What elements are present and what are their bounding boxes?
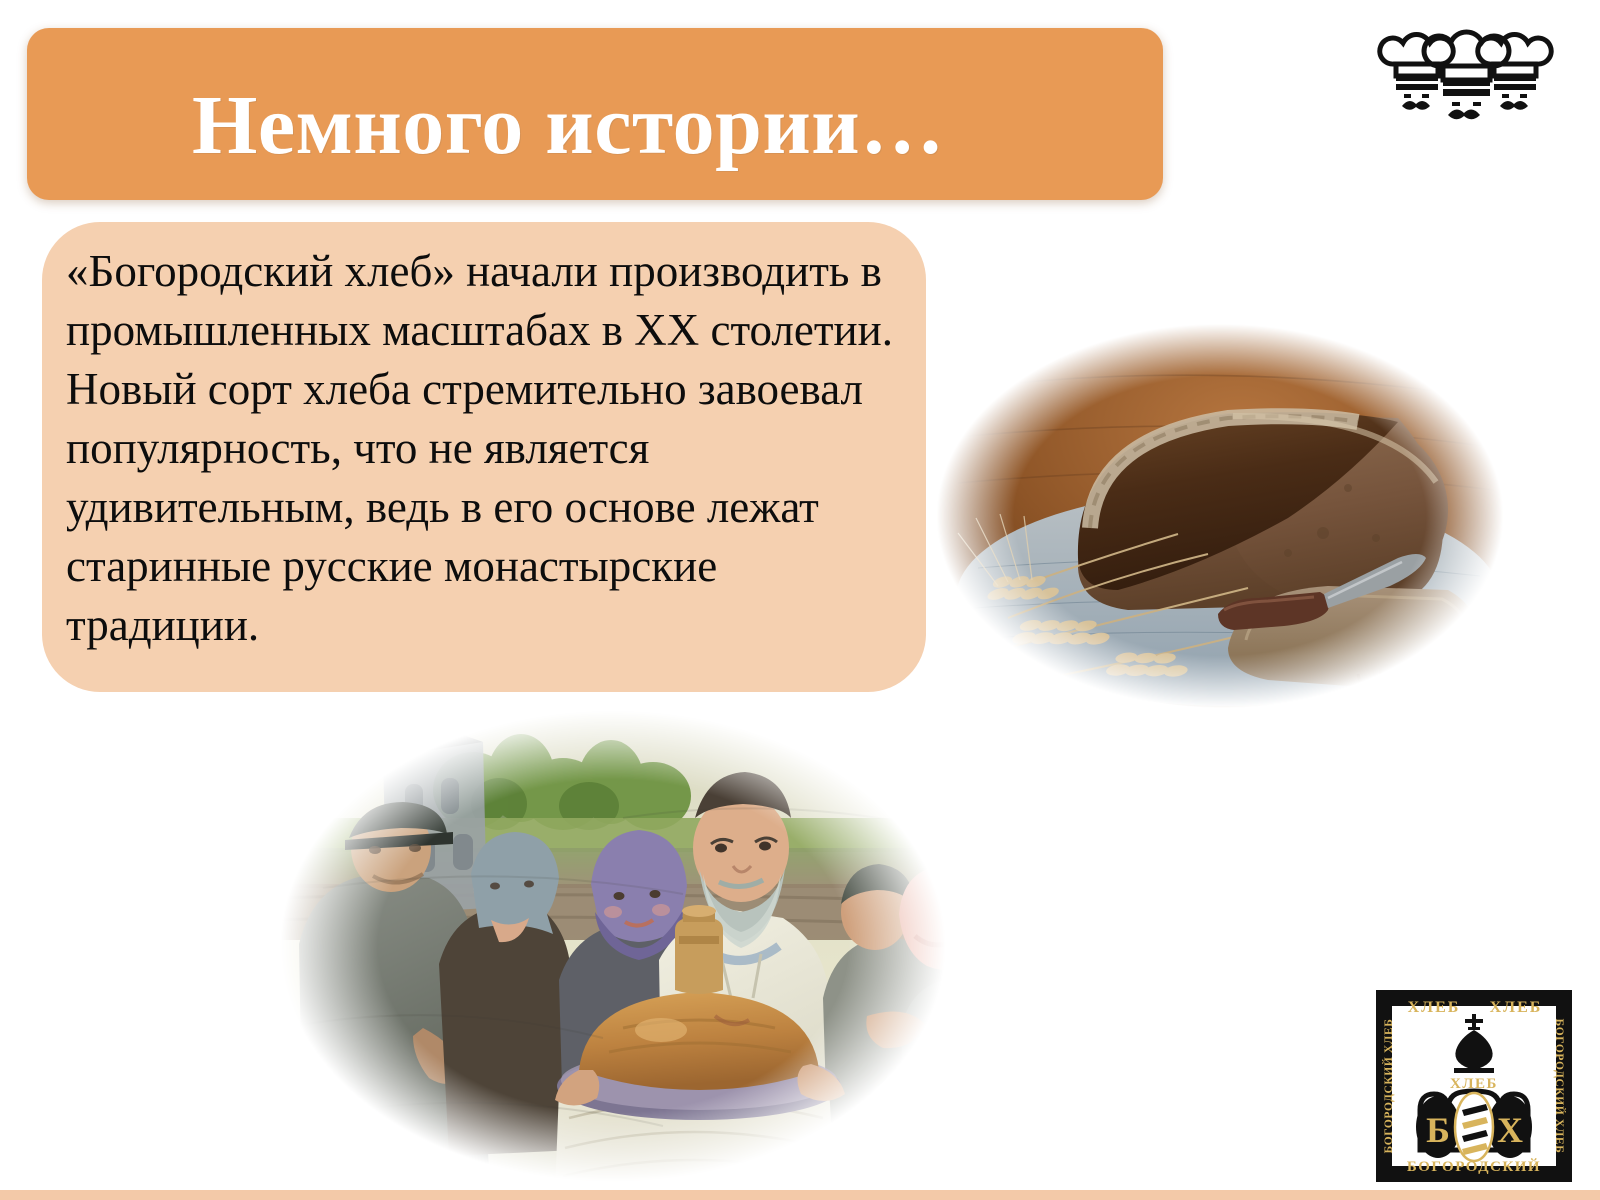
title-banner: Немного истории…	[27, 28, 1163, 200]
svg-text:БОГОРОДСКИЙ ХЛЕБ: БОГОРОДСКИЙ ХЛЕБ	[1553, 1019, 1567, 1154]
svg-text:ХЛЕБ: ХЛЕБ	[1490, 999, 1543, 1016]
svg-text:БОГОРОДСКИЙ ХЛЕБ: БОГОРОДСКИЙ ХЛЕБ	[1381, 1019, 1395, 1154]
painting-photo	[263, 698, 963, 1194]
svg-text:Б: Б	[1426, 1110, 1450, 1150]
bottom-accent-strip	[0, 1190, 1600, 1200]
svg-text:ХЛЕБ: ХЛЕБ	[1408, 999, 1461, 1016]
bread-photo	[928, 318, 1512, 714]
body-text-card: «Богородский хлеб» начали производить в …	[42, 222, 926, 692]
body-paragraph: «Богородский хлеб» начали производить в …	[66, 242, 906, 655]
page-title: Немного истории…	[192, 78, 1132, 174]
bogorodsky-hleb-logo: ХЛЕБ ХЛЕБ БОГОРОДСКИЙ БОГОРОДСКИЙ ХЛЕБ Б…	[1376, 990, 1572, 1182]
svg-text:Х: Х	[1497, 1110, 1523, 1150]
chef-hats-icon	[1374, 24, 1554, 124]
